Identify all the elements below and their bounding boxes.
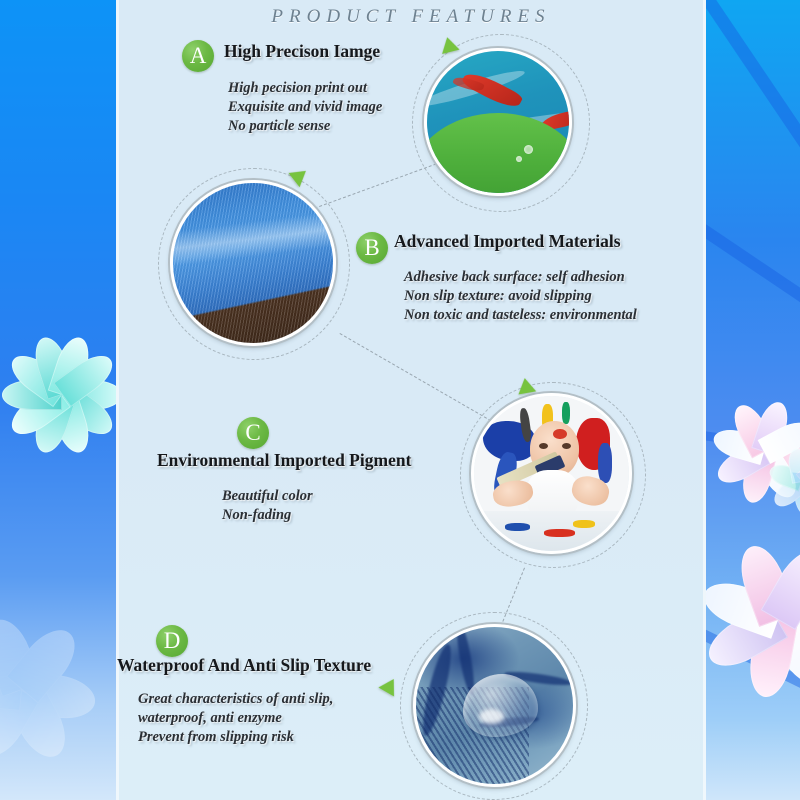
body-c: Beautiful color Non-fading [222, 487, 313, 525]
body-c-line-1: Beautiful color [222, 487, 313, 506]
badge-d: D [156, 625, 188, 657]
body-a: High pecision print out Exquisite and vi… [228, 79, 382, 136]
body-d: Great characteristics of anti slip, wate… [138, 690, 333, 747]
heading-d: Waterproof And Anti Slip Texture [117, 655, 371, 676]
panel-right-edge [703, 0, 706, 800]
page-title: PRODUCT FEATURES [116, 6, 706, 28]
blue-ribbed-fabric-photo [170, 180, 336, 346]
body-b-line-2: Non slip texture: avoid slipping [404, 287, 637, 306]
heading-c: Environmental Imported Pigment [157, 450, 411, 471]
baby-painting-photo [471, 393, 632, 554]
body-b-line-1: Adhesive back surface: self adhesion [404, 268, 637, 287]
body-a-line-3: No particle sense [228, 117, 382, 136]
body-b-line-3: Non toxic and tasteless: environmental [404, 306, 637, 325]
left-decorative-band [0, 0, 116, 800]
arrow-to-c-icon [516, 377, 536, 395]
body-d-line-2: waterproof, anti enzyme [138, 709, 333, 728]
koi-pond-print-photo [424, 48, 572, 196]
right-decorative-band [706, 0, 800, 800]
badge-c: C [237, 417, 269, 449]
infographic-canvas: PRODUCT FEATURES A High Precison Iamge H… [0, 0, 800, 800]
badge-a: A [182, 40, 214, 72]
panel-left-edge [116, 0, 119, 800]
water-droplet-texture-photo [413, 624, 576, 787]
body-d-line-1: Great characteristics of anti slip, [138, 690, 333, 709]
badge-b: B [356, 232, 388, 264]
heading-a: High Precison Iamge [224, 41, 380, 62]
body-d-line-3: Prevent from slipping risk [138, 728, 333, 747]
body-a-line-1: High pecision print out [228, 79, 382, 98]
body-a-line-2: Exquisite and vivid image [228, 98, 382, 117]
body-c-line-2: Non-fading [222, 506, 313, 525]
body-b: Adhesive back surface: self adhesion Non… [404, 268, 637, 325]
heading-b: Advanced Imported Materials [394, 231, 621, 252]
